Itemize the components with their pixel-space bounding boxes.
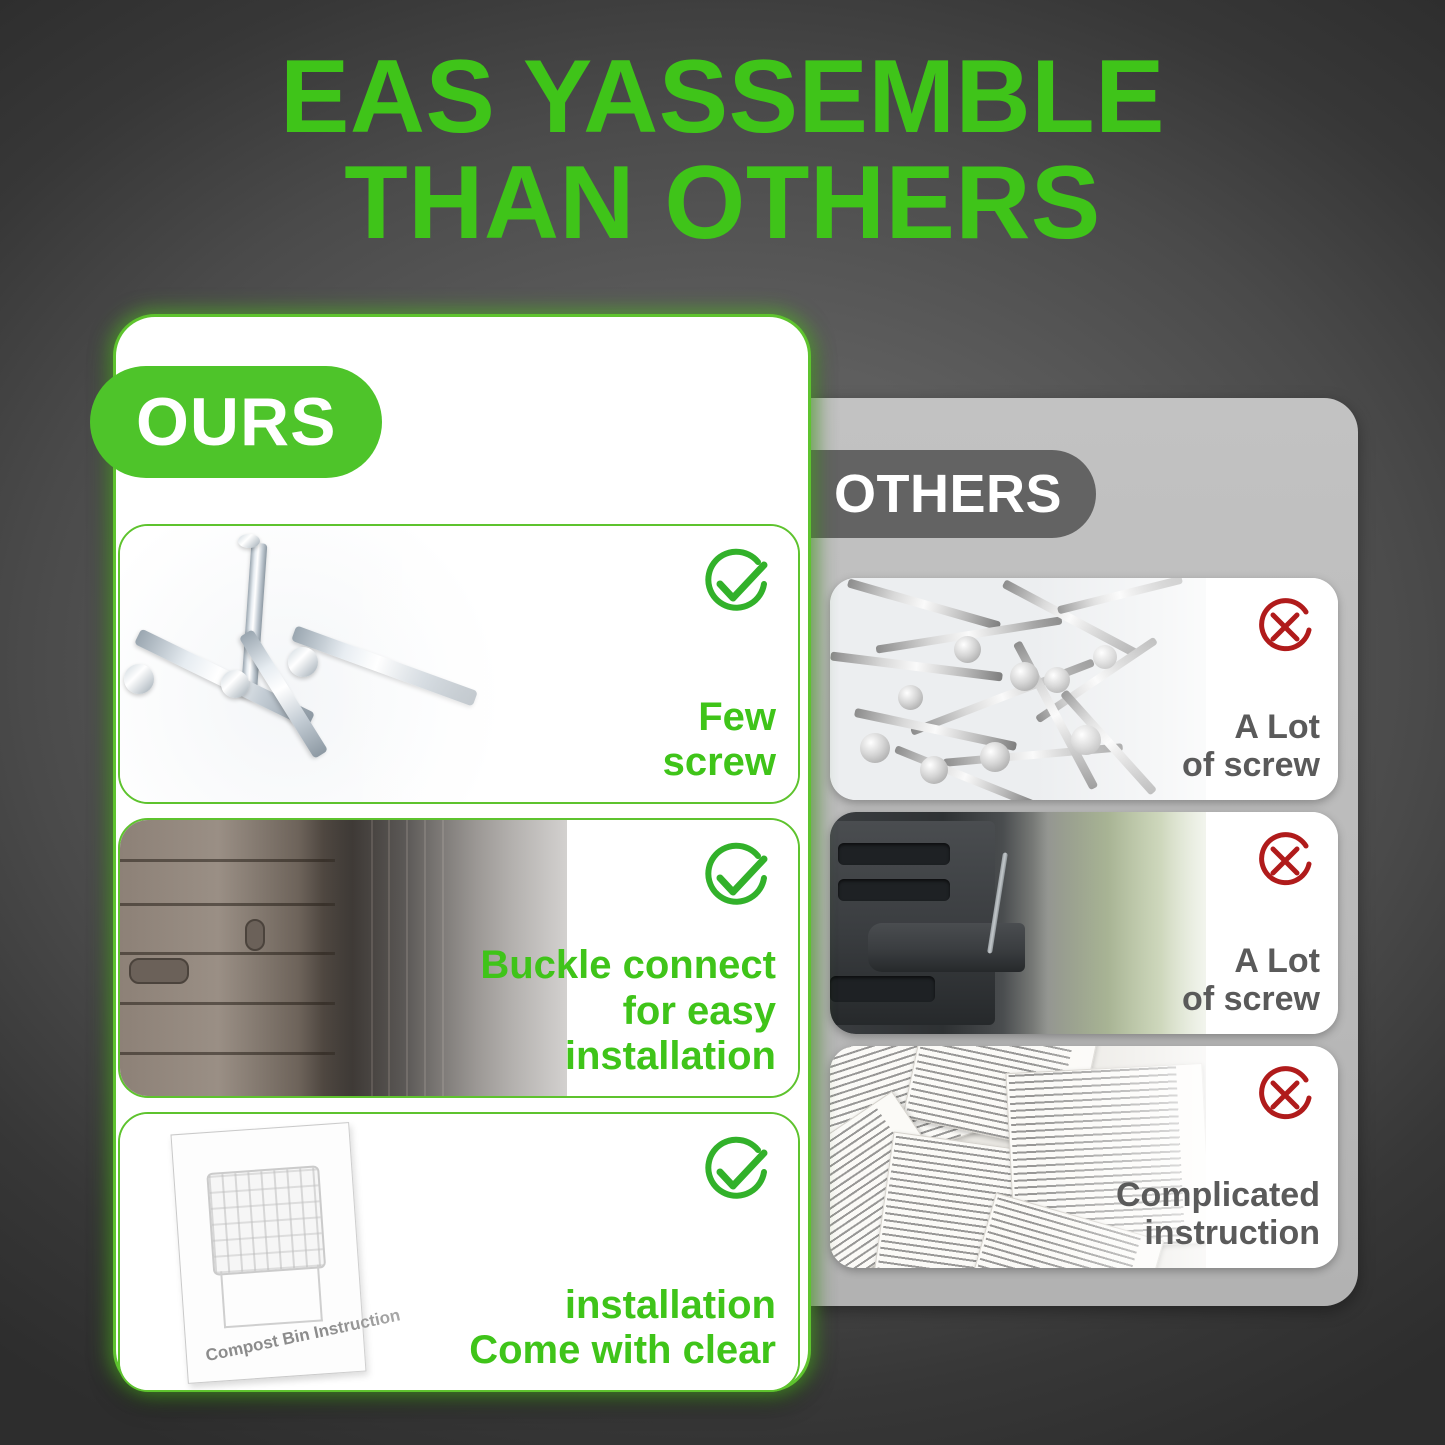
- others-row-content: A Lot of screw: [1130, 826, 1320, 1022]
- check-circle-icon: [696, 1132, 776, 1212]
- others-row-content: Complicated instruction: [1130, 1060, 1320, 1256]
- ours-row-label: Few screw: [663, 695, 776, 786]
- ours-row-content: Buckle connect for easy installation: [446, 838, 776, 1080]
- comparison-infographic: EAS YASSEMBLE THAN OTHERS OTHERS: [0, 0, 1445, 1445]
- page-title: EAS YASSEMBLE THAN OTHERS: [0, 44, 1445, 256]
- others-row-label-line-1: A Lot: [1182, 708, 1320, 746]
- ours-row-label: installation Come with clear: [469, 1283, 776, 1374]
- ours-rows: Few screw: [118, 524, 800, 1406]
- check-circle-icon: [696, 544, 776, 624]
- ours-row-label-line-1: installation: [469, 1283, 776, 1329]
- x-circle-icon: [1250, 1060, 1320, 1130]
- others-row-screws: A Lot of screw: [830, 578, 1338, 800]
- others-row-label: Complicated instruction: [1116, 1176, 1320, 1256]
- others-row-content: A Lot of screw: [1130, 592, 1320, 788]
- others-badge: OTHERS: [806, 450, 1096, 538]
- ours-row-label-line-2: for easy: [480, 989, 776, 1035]
- others-rows: A Lot of screw: [830, 578, 1338, 1280]
- others-row-label-line-2: of screw: [1182, 980, 1320, 1018]
- others-row-label: A Lot of screw: [1182, 942, 1320, 1022]
- ours-row-label: Buckle connect for easy installation: [480, 943, 776, 1080]
- others-row-label-line-2: instruction: [1116, 1214, 1320, 1252]
- page-title-line-2: THAN OTHERS: [0, 150, 1445, 256]
- ours-row-label-line-3: installation: [480, 1034, 776, 1080]
- ours-row-buckle: Buckle connect for easy installation: [118, 818, 800, 1098]
- others-row-label-line-2: of screw: [1182, 746, 1320, 784]
- ours-row-content: Few screw: [446, 544, 776, 786]
- others-row-label-line-1: Complicated: [1116, 1176, 1320, 1214]
- others-row-papers: Complicated instruction: [830, 1046, 1338, 1268]
- ours-row-instruction: Compost Bin Instruction installation Com…: [118, 1112, 800, 1392]
- x-circle-icon: [1250, 592, 1320, 662]
- ours-badge: OURS: [90, 366, 382, 478]
- check-circle-icon: [696, 838, 776, 918]
- ours-row-label-line-1: Buckle connect: [480, 943, 776, 989]
- ours-row-label-line-2: Come with clear: [469, 1328, 776, 1374]
- ours-row-label-line-2: screw: [663, 740, 776, 786]
- others-row-label-line-1: A Lot: [1182, 942, 1320, 980]
- others-row-label: A Lot of screw: [1182, 708, 1320, 788]
- ours-row-content: installation Come with clear: [446, 1132, 776, 1374]
- x-circle-icon: [1250, 826, 1320, 896]
- others-row-bin: A Lot of screw: [830, 812, 1338, 1034]
- ours-row-label-line-1: Few: [663, 695, 776, 741]
- page-title-line-1: EAS YASSEMBLE: [0, 44, 1445, 150]
- ours-row-screws: Few screw: [118, 524, 800, 804]
